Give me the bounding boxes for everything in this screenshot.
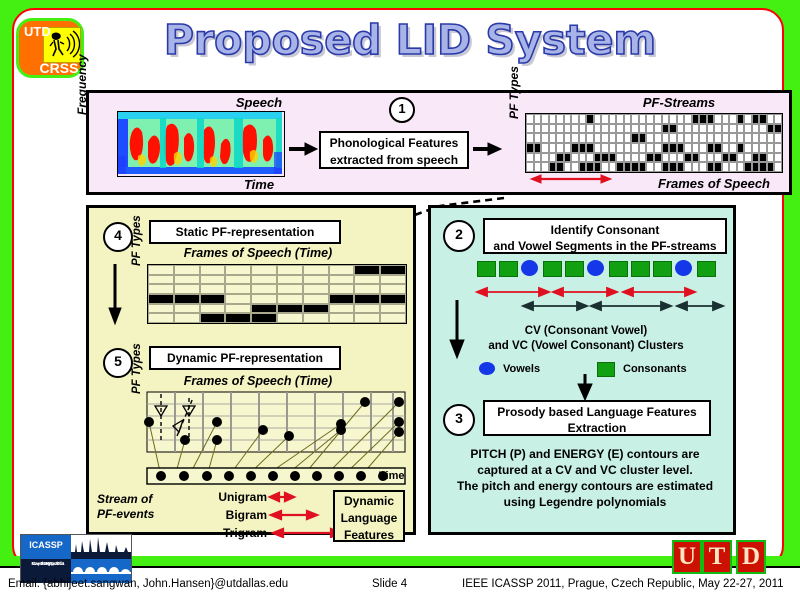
- pf-cell: [677, 133, 685, 143]
- pf-cell-static: [148, 265, 174, 275]
- panel-step1: Speech Frequency: [86, 90, 792, 195]
- pf-cell: [737, 124, 745, 134]
- pf-cell: [669, 124, 677, 134]
- pf-cell: [654, 153, 662, 163]
- pf-cell-static: [251, 313, 277, 323]
- pf-cell: [609, 143, 617, 153]
- vowel-token: [521, 260, 538, 276]
- icassp-name-badge: ICASSP: [21, 535, 71, 559]
- pf-cell: [541, 162, 549, 172]
- pf-cell: [616, 162, 624, 172]
- pf-cell: [737, 153, 745, 163]
- prague-skyline-icon: [71, 535, 131, 559]
- pf-cell: [549, 133, 557, 143]
- pf-cell: [646, 124, 654, 134]
- trigram-label: Trigram: [187, 526, 267, 540]
- pf-cell-static: [174, 294, 200, 304]
- pf-cell: [594, 162, 602, 172]
- consonant-token: [543, 261, 562, 277]
- consonant-token: [609, 261, 628, 277]
- pf-cell-static: [251, 284, 277, 294]
- dynamic-pf-title-box: Dynamic PF-representation: [149, 346, 341, 370]
- vowel-token: [587, 260, 604, 276]
- pf-cell: [744, 143, 752, 153]
- pf-cell: [609, 162, 617, 172]
- pf-cell: [707, 124, 715, 134]
- prosody-desc-line4: using Legendre polynomials: [439, 494, 731, 510]
- pf-cell: [579, 114, 587, 124]
- pf-cell: [616, 133, 624, 143]
- pf-cell: [759, 143, 767, 153]
- crss-logo: UTD CRSS: [16, 18, 84, 78]
- pf-cell: [744, 114, 752, 124]
- pf-cell: [767, 124, 775, 134]
- pf-cell: [707, 162, 715, 172]
- pf-cell: [556, 162, 564, 172]
- pf-cell: [564, 143, 572, 153]
- prosody-desc-line2: captured at a CV and VC cluster level.: [439, 462, 731, 478]
- pf-cell: [714, 114, 722, 124]
- pf-cell: [699, 162, 707, 172]
- legend-vowels-label: Vowels: [503, 363, 540, 375]
- pf-cell: [571, 133, 579, 143]
- pf-cell: [609, 153, 617, 163]
- panel-step45: 4 Static PF-representation Frames of Spe…: [86, 205, 416, 535]
- prosody-description: PITCH (P) and ENERGY (E) contours are ca…: [439, 446, 731, 510]
- pf-cell: [669, 143, 677, 153]
- footer-conference: IEEE ICASSP 2011, Prague, Czech Republic…: [462, 578, 784, 590]
- pf-cell: [669, 153, 677, 163]
- pf-cell: [752, 114, 760, 124]
- prosody-line1: Prosody based Language Features: [485, 404, 709, 420]
- pf-cell: [601, 162, 609, 172]
- pf-types-label-1: PF Types: [507, 66, 521, 119]
- pf-cell: [692, 143, 700, 153]
- pf-cell-static: [251, 294, 277, 304]
- pf-cell: [564, 153, 572, 163]
- pf-cell-static: [174, 313, 200, 323]
- pf-cell-static: [225, 275, 251, 285]
- pf-cell: [526, 124, 534, 134]
- pf-cell: [654, 124, 662, 134]
- pf-cell-static: [251, 265, 277, 275]
- pf-cell: [534, 114, 542, 124]
- pf-cell: [744, 124, 752, 134]
- pf-cell: [714, 143, 722, 153]
- pf-cell-static: [148, 275, 174, 285]
- pf-box-line1: Phonological Features: [321, 135, 467, 152]
- pf-cell: [601, 114, 609, 124]
- footer-email: Email: {abhijeet.sangwan, John.Hansen}@u…: [8, 578, 288, 590]
- pf-cell: [759, 162, 767, 172]
- time-label: Time: [189, 177, 329, 192]
- footer-slide-number: Slide 4: [372, 578, 407, 590]
- pf-cell-static: [174, 265, 200, 275]
- pf-cell: [601, 143, 609, 153]
- pf-cell: [549, 114, 557, 124]
- pf-cell: [662, 143, 670, 153]
- pf-cell: [586, 153, 594, 163]
- pf-cell: [744, 153, 752, 163]
- pf-cell: [639, 143, 647, 153]
- pf-cell: [564, 124, 572, 134]
- pf-cell: [662, 133, 670, 143]
- pf-cell: [556, 133, 564, 143]
- pf-cell: [541, 133, 549, 143]
- consonant-token: [697, 261, 716, 277]
- pf-cell-static: [277, 294, 303, 304]
- step-2-badge: 2: [443, 220, 475, 252]
- pf-cell: [729, 114, 737, 124]
- static-pf-title-box: Static PF-representation: [149, 220, 341, 244]
- pf-cell: [677, 114, 685, 124]
- pf-cell: [692, 114, 700, 124]
- pf-cell: [654, 143, 662, 153]
- pf-cell: [714, 162, 722, 172]
- pf-cell: [631, 153, 639, 163]
- pf-cell: [722, 143, 730, 153]
- pf-cell: [722, 162, 730, 172]
- cv-cluster-caption: CV (Consonant Vowel) and VC (Vowel Conso…: [441, 324, 731, 354]
- pf-cell: [684, 133, 692, 143]
- pf-cell-static: [148, 304, 174, 314]
- pf-cell-static: [148, 294, 174, 304]
- pf-cell: [707, 114, 715, 124]
- pf-cell: [639, 133, 647, 143]
- pf-cell: [699, 133, 707, 143]
- identify-line2: and Vowel Segments in the PF-streams: [485, 238, 725, 254]
- pf-cell-static: [200, 265, 226, 275]
- pf-cell: [662, 153, 670, 163]
- pf-cell: [594, 153, 602, 163]
- panel-step23: 2 Identify Consonant and Vowel Segments …: [428, 205, 736, 535]
- pf-box-line2: extracted from speech: [321, 152, 467, 169]
- identify-consonant-box: Identify Consonant and Vowel Segments in…: [483, 218, 727, 254]
- dlf-line1: Dynamic: [335, 493, 403, 510]
- pf-cell-static: [329, 265, 355, 275]
- cv-sequence: [477, 260, 717, 280]
- pf-cell: [579, 153, 587, 163]
- page-title: Proposed LID System: [150, 12, 670, 68]
- pf-cell: [774, 114, 782, 124]
- pf-cell-static: [380, 265, 406, 275]
- pf-cell: [564, 162, 572, 172]
- pf-cell-static: [303, 304, 329, 314]
- pf-cell: [549, 162, 557, 172]
- pf-cell: [752, 143, 760, 153]
- pf-cell-static: [380, 304, 406, 314]
- pf-cell: [549, 124, 557, 134]
- pf-cell: [601, 133, 609, 143]
- pf-cell-static: [277, 265, 303, 275]
- pf-cell: [624, 133, 632, 143]
- pf-cell: [609, 114, 617, 124]
- pf-cell: [594, 124, 602, 134]
- pf-cell: [692, 162, 700, 172]
- pf-cell: [767, 133, 775, 143]
- pf-cell-static: [251, 304, 277, 314]
- pf-cell: [729, 124, 737, 134]
- pf-cell: [684, 162, 692, 172]
- pf-cell: [744, 133, 752, 143]
- pf-cell: [639, 124, 647, 134]
- pf-cell: [639, 114, 647, 124]
- pf-cell: [677, 153, 685, 163]
- pf-cell: [759, 114, 767, 124]
- static-pf-grid: [147, 264, 407, 324]
- pf-cell: [571, 124, 579, 134]
- slide-root: UTD CRSS Proposed LID System Speech Freq…: [0, 0, 800, 598]
- pf-cell-static: [354, 304, 380, 314]
- utd-logo-d: D: [736, 540, 766, 574]
- pf-cell: [609, 133, 617, 143]
- pf-cell: [646, 153, 654, 163]
- prosody-box: Prosody based Language Features Extracti…: [483, 400, 711, 436]
- pf-cell: [662, 114, 670, 124]
- pf-cell: [707, 143, 715, 153]
- consonant-token: [499, 261, 518, 277]
- pf-cell-static: [200, 313, 226, 323]
- utd-logo-u: U: [672, 540, 702, 574]
- pf-cell: [677, 162, 685, 172]
- pf-cell: [586, 143, 594, 153]
- pf-cell: [571, 162, 579, 172]
- pf-cell-static: [354, 275, 380, 285]
- frames-of-speech-label: Frames of Speech: [634, 176, 794, 191]
- pf-cell: [752, 153, 760, 163]
- dlf-line3: Features: [335, 527, 403, 544]
- pf-cell-static: [380, 284, 406, 294]
- pf-cell: [534, 133, 542, 143]
- prosody-desc-line1: PITCH (P) and ENERGY (E) contours are: [439, 446, 731, 462]
- pf-cell: [714, 153, 722, 163]
- prosody-line2: Extraction: [485, 420, 709, 436]
- pf-cell: [714, 133, 722, 143]
- pf-cell: [646, 162, 654, 172]
- pf-cell-static: [380, 294, 406, 304]
- pf-cell: [677, 143, 685, 153]
- pf-cell-static: [329, 284, 355, 294]
- pf-cell-static: [329, 294, 355, 304]
- pf-cell: [767, 153, 775, 163]
- pf-cell-static: [277, 275, 303, 285]
- pf-cell: [722, 133, 730, 143]
- pf-cell: [541, 153, 549, 163]
- pf-cell: [586, 114, 594, 124]
- pf-cell: [624, 124, 632, 134]
- pf-cell: [526, 162, 534, 172]
- phonological-features-box: Phonological Features extracted from spe…: [319, 131, 469, 169]
- pf-cell-static: [354, 294, 380, 304]
- bigram-label: Bigram: [187, 508, 267, 522]
- stream-line1: Stream of: [97, 492, 187, 507]
- pf-cell-static: [225, 294, 251, 304]
- pf-cell: [624, 153, 632, 163]
- pf-cell: [737, 114, 745, 124]
- cv-legend: Vowels Consonants: [471, 360, 721, 378]
- pf-cell: [774, 133, 782, 143]
- stream-of-pf-events-label: Stream of PF-events: [97, 492, 187, 522]
- step-4-badge: 4: [103, 222, 133, 252]
- frames-label-static: Frames of Speech (Time): [133, 246, 383, 260]
- pf-cell: [669, 133, 677, 143]
- pf-cell: [526, 143, 534, 153]
- identify-line1: Identify Consonant: [485, 222, 725, 238]
- pf-cell: [579, 143, 587, 153]
- pf-cell-static: [200, 284, 226, 294]
- pf-cell: [616, 153, 624, 163]
- pf-cell: [631, 162, 639, 172]
- prosody-desc-line3: The pitch and energy contours are estima…: [439, 478, 731, 494]
- pf-types-label-dynamic: PF Types: [131, 343, 143, 394]
- step-5-badge: 5: [103, 348, 133, 378]
- pf-cell: [669, 114, 677, 124]
- pf-cell: [662, 162, 670, 172]
- pf-cell: [767, 162, 775, 172]
- pf-cell: [526, 114, 534, 124]
- pf-cell: [534, 162, 542, 172]
- pf-cell: [549, 153, 557, 163]
- pf-cell: [631, 133, 639, 143]
- pf-cell: [586, 124, 594, 134]
- pf-cell: [684, 114, 692, 124]
- pf-cell-static: [148, 284, 174, 294]
- step-3-badge: 3: [443, 404, 475, 436]
- pf-cell-static: [303, 313, 329, 323]
- pf-cell: [601, 153, 609, 163]
- pf-types-label-static: PF Types: [131, 215, 143, 266]
- pf-cell: [631, 124, 639, 134]
- pf-cell-static: [354, 284, 380, 294]
- dynamic-language-features-box: Dynamic Language Features: [333, 490, 405, 542]
- pf-cell: [646, 114, 654, 124]
- pf-cell: [774, 124, 782, 134]
- pf-cell: [639, 153, 647, 163]
- pf-cell: [654, 162, 662, 172]
- vowel-marker-icon: [479, 362, 495, 375]
- consonant-token: [631, 261, 650, 277]
- pf-cell-static: [380, 313, 406, 323]
- pf-cell-static: [225, 313, 251, 323]
- pf-cell-static: [354, 265, 380, 275]
- legend-consonants-label: Consonants: [623, 363, 687, 375]
- pf-cell-static: [303, 294, 329, 304]
- pf-cell: [692, 124, 700, 134]
- pf-cell: [729, 153, 737, 163]
- utd-logo: U T D: [672, 538, 778, 578]
- pf-cell: [579, 162, 587, 172]
- pf-cell-static: [225, 284, 251, 294]
- pf-cell: [737, 133, 745, 143]
- pf-cell: [699, 153, 707, 163]
- pf-cell: [594, 133, 602, 143]
- cv-line2: and VC (Vowel Consonant) Clusters: [441, 339, 731, 354]
- pf-cell: [534, 143, 542, 153]
- pf-cell: [722, 114, 730, 124]
- pf-cell: [654, 133, 662, 143]
- pf-cell: [571, 143, 579, 153]
- pf-cell: [662, 124, 670, 134]
- pf-cell-static: [277, 304, 303, 314]
- dlf-line2: Language: [335, 510, 403, 527]
- pf-cell: [556, 153, 564, 163]
- pf-cell: [624, 114, 632, 124]
- pf-streams-label: PF-Streams: [589, 95, 769, 110]
- pf-cell: [571, 153, 579, 163]
- pf-cell: [699, 114, 707, 124]
- pf-cell: [692, 153, 700, 163]
- pf-cell: [646, 133, 654, 143]
- unigram-label: Unigram: [187, 490, 267, 504]
- pf-cell: [669, 162, 677, 172]
- pf-cell: [707, 133, 715, 143]
- pf-cell: [729, 143, 737, 153]
- pf-cell-static: [174, 275, 200, 285]
- pf-cell: [564, 114, 572, 124]
- pf-cell: [616, 143, 624, 153]
- pf-cell: [722, 153, 730, 163]
- pf-cell: [684, 124, 692, 134]
- stream-line2: PF-events: [97, 507, 187, 522]
- pf-cell: [699, 124, 707, 134]
- pf-cell: [526, 153, 534, 163]
- pf-cell: [541, 143, 549, 153]
- pf-cell: [564, 133, 572, 143]
- pf-cell: [752, 133, 760, 143]
- pf-cell-static: [380, 275, 406, 285]
- pf-cell: [684, 143, 692, 153]
- pf-cell: [579, 124, 587, 134]
- cv-line1: CV (Consonant Vowel): [441, 324, 731, 339]
- pf-cell-static: [200, 275, 226, 285]
- pf-cell: [767, 114, 775, 124]
- consonant-marker-icon: [597, 362, 615, 377]
- time-label-dynamic: Time: [379, 470, 404, 482]
- pf-cell: [534, 153, 542, 163]
- pf-cell: [759, 133, 767, 143]
- pf-cell: [631, 114, 639, 124]
- frames-label-dynamic: Frames of Speech (Time): [133, 374, 383, 388]
- pf-cell: [677, 124, 685, 134]
- pf-cell: [556, 143, 564, 153]
- pf-cell: [752, 124, 760, 134]
- pf-cell: [571, 114, 579, 124]
- pf-cell: [774, 153, 782, 163]
- pf-cell: [601, 124, 609, 134]
- pf-cell-static: [174, 284, 200, 294]
- pf-cell: [586, 133, 594, 143]
- pf-cell-static: [148, 313, 174, 323]
- pf-stream-grid: [525, 113, 783, 173]
- pf-cell: [737, 162, 745, 172]
- icassp-logo: ICASSP May 22-27, 2011 Prague Czech Repu…: [20, 534, 132, 582]
- pf-cell: [579, 133, 587, 143]
- pf-cell-static: [303, 265, 329, 275]
- frequency-label: Frequency: [75, 54, 89, 115]
- pf-cell-static: [277, 284, 303, 294]
- pf-cell: [534, 124, 542, 134]
- pf-cell: [639, 162, 647, 172]
- pf-cell: [541, 124, 549, 134]
- pf-cell-static: [251, 275, 277, 285]
- pf-cell: [549, 143, 557, 153]
- pf-cell: [526, 133, 534, 143]
- step-1-badge: 1: [389, 97, 415, 123]
- pf-cell-static: [329, 275, 355, 285]
- pf-cell: [594, 143, 602, 153]
- pf-cell: [616, 114, 624, 124]
- pf-cell: [594, 114, 602, 124]
